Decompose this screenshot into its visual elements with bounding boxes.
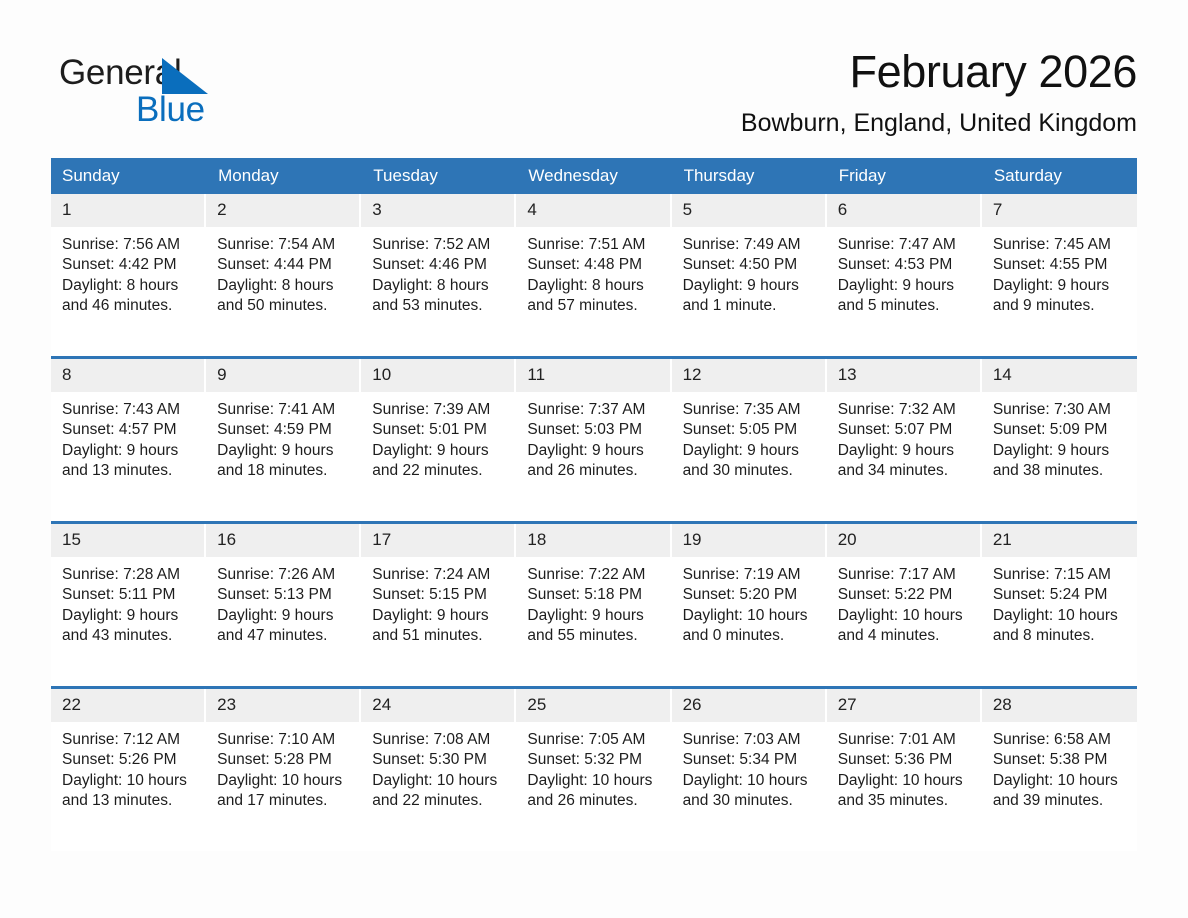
page-header: General Blue February 2026 Bowburn, Engl…: [51, 44, 1137, 152]
day-cell[interactable]: 10 Sunrise: 7:39 AM Sunset: 5:01 PM Dayl…: [361, 358, 516, 523]
sunset-text: Sunset: 4:44 PM: [217, 255, 353, 275]
calendar-week-row: 8 Sunrise: 7:43 AM Sunset: 4:57 PM Dayli…: [51, 358, 1137, 523]
calendar-week-row: 22 Sunrise: 7:12 AM Sunset: 5:26 PM Dayl…: [51, 688, 1137, 852]
daylight-text-line1: Daylight: 9 hours: [62, 606, 198, 626]
sunset-text: Sunset: 5:36 PM: [838, 750, 974, 770]
daylight-text-line1: Daylight: 9 hours: [993, 276, 1129, 296]
daylight-text-line1: Daylight: 9 hours: [683, 276, 819, 296]
day-info: Sunrise: 7:51 AM Sunset: 4:48 PM Dayligh…: [516, 227, 671, 316]
day-info: Sunrise: 7:37 AM Sunset: 5:03 PM Dayligh…: [516, 392, 671, 481]
day-cell[interactable]: 19 Sunrise: 7:19 AM Sunset: 5:20 PM Dayl…: [672, 523, 827, 688]
sunset-text: Sunset: 5:18 PM: [527, 585, 663, 605]
weekday-header-saturday: Saturday: [982, 158, 1137, 194]
sunset-text: Sunset: 5:22 PM: [838, 585, 974, 605]
calendar-week-row: 1 Sunrise: 7:56 AM Sunset: 4:42 PM Dayli…: [51, 194, 1137, 358]
day-info: Sunrise: 7:10 AM Sunset: 5:28 PM Dayligh…: [206, 722, 361, 811]
day-number: 11: [516, 359, 671, 392]
daylight-text-line2: and 47 minutes.: [217, 626, 353, 646]
day-number: 10: [361, 359, 516, 392]
weekday-header-thursday: Thursday: [672, 158, 827, 194]
sunset-text: Sunset: 5:38 PM: [993, 750, 1129, 770]
sunrise-text: Sunrise: 7:37 AM: [527, 400, 663, 420]
day-cell[interactable]: 24 Sunrise: 7:08 AM Sunset: 5:30 PM Dayl…: [361, 688, 516, 852]
sunrise-text: Sunrise: 7:26 AM: [217, 565, 353, 585]
daylight-text-line2: and 26 minutes.: [527, 791, 663, 811]
daylight-text-line1: Daylight: 9 hours: [838, 276, 974, 296]
day-cell[interactable]: 1 Sunrise: 7:56 AM Sunset: 4:42 PM Dayli…: [51, 194, 206, 358]
day-info: Sunrise: 7:03 AM Sunset: 5:34 PM Dayligh…: [672, 722, 827, 811]
daylight-text-line1: Daylight: 9 hours: [372, 606, 508, 626]
location-subtitle: Bowburn, England, United Kingdom: [437, 108, 1137, 138]
daylight-text-line1: Daylight: 10 hours: [683, 771, 819, 791]
day-number: 8: [51, 359, 206, 392]
daylight-text-line2: and 4 minutes.: [838, 626, 974, 646]
day-number: 13: [827, 359, 982, 392]
day-cell[interactable]: 18 Sunrise: 7:22 AM Sunset: 5:18 PM Dayl…: [516, 523, 671, 688]
sunrise-text: Sunrise: 7:35 AM: [683, 400, 819, 420]
day-number: 7: [982, 194, 1137, 227]
sunrise-text: Sunrise: 7:41 AM: [217, 400, 353, 420]
day-cell[interactable]: 2 Sunrise: 7:54 AM Sunset: 4:44 PM Dayli…: [206, 194, 361, 358]
sunset-text: Sunset: 5:15 PM: [372, 585, 508, 605]
day-info: Sunrise: 7:26 AM Sunset: 5:13 PM Dayligh…: [206, 557, 361, 646]
calendar-container: Sunday Monday Tuesday Wednesday Thursday…: [51, 158, 1137, 851]
sunrise-text: Sunrise: 7:39 AM: [372, 400, 508, 420]
day-cell[interactable]: 22 Sunrise: 7:12 AM Sunset: 5:26 PM Dayl…: [51, 688, 206, 852]
day-cell[interactable]: 12 Sunrise: 7:35 AM Sunset: 5:05 PM Dayl…: [672, 358, 827, 523]
day-info: Sunrise: 7:45 AM Sunset: 4:55 PM Dayligh…: [982, 227, 1137, 316]
sunset-text: Sunset: 5:09 PM: [993, 420, 1129, 440]
daylight-text-line2: and 53 minutes.: [372, 296, 508, 316]
day-cell[interactable]: 27 Sunrise: 7:01 AM Sunset: 5:36 PM Dayl…: [827, 688, 982, 852]
daylight-text-line1: Daylight: 9 hours: [217, 606, 353, 626]
day-cell[interactable]: 14 Sunrise: 7:30 AM Sunset: 5:09 PM Dayl…: [982, 358, 1137, 523]
day-number: 9: [206, 359, 361, 392]
day-number: 14: [982, 359, 1137, 392]
sunset-text: Sunset: 5:13 PM: [217, 585, 353, 605]
sunset-text: Sunset: 5:32 PM: [527, 750, 663, 770]
day-cell[interactable]: 25 Sunrise: 7:05 AM Sunset: 5:32 PM Dayl…: [516, 688, 671, 852]
daylight-text-line1: Daylight: 9 hours: [838, 441, 974, 461]
weekday-header-tuesday: Tuesday: [361, 158, 516, 194]
day-info: Sunrise: 7:41 AM Sunset: 4:59 PM Dayligh…: [206, 392, 361, 481]
daylight-text-line1: Daylight: 10 hours: [372, 771, 508, 791]
day-info: Sunrise: 7:12 AM Sunset: 5:26 PM Dayligh…: [51, 722, 206, 811]
title-block: February 2026 Bowburn, England, United K…: [437, 44, 1137, 138]
daylight-text-line2: and 13 minutes.: [62, 791, 198, 811]
daylight-text-line2: and 57 minutes.: [527, 296, 663, 316]
daylight-text-line2: and 38 minutes.: [993, 461, 1129, 481]
day-cell[interactable]: 26 Sunrise: 7:03 AM Sunset: 5:34 PM Dayl…: [672, 688, 827, 852]
day-number: 16: [206, 524, 361, 557]
day-cell[interactable]: 7 Sunrise: 7:45 AM Sunset: 4:55 PM Dayli…: [982, 194, 1137, 358]
sunset-text: Sunset: 5:01 PM: [372, 420, 508, 440]
day-number: 3: [361, 194, 516, 227]
day-info: Sunrise: 7:17 AM Sunset: 5:22 PM Dayligh…: [827, 557, 982, 646]
sunrise-text: Sunrise: 7:12 AM: [62, 730, 198, 750]
daylight-text-line2: and 43 minutes.: [62, 626, 198, 646]
daylight-text-line2: and 30 minutes.: [683, 461, 819, 481]
day-cell[interactable]: 16 Sunrise: 7:26 AM Sunset: 5:13 PM Dayl…: [206, 523, 361, 688]
sunrise-text: Sunrise: 7:52 AM: [372, 235, 508, 255]
weekday-header-friday: Friday: [827, 158, 982, 194]
day-cell[interactable]: 8 Sunrise: 7:43 AM Sunset: 4:57 PM Dayli…: [51, 358, 206, 523]
daylight-text-line2: and 13 minutes.: [62, 461, 198, 481]
day-cell[interactable]: 5 Sunrise: 7:49 AM Sunset: 4:50 PM Dayli…: [672, 194, 827, 358]
daylight-text-line1: Daylight: 9 hours: [62, 441, 198, 461]
sunset-text: Sunset: 4:53 PM: [838, 255, 974, 275]
daylight-text-line1: Daylight: 10 hours: [993, 606, 1129, 626]
sunset-text: Sunset: 5:07 PM: [838, 420, 974, 440]
day-number: 23: [206, 689, 361, 722]
day-info: Sunrise: 7:19 AM Sunset: 5:20 PM Dayligh…: [672, 557, 827, 646]
day-cell[interactable]: 23 Sunrise: 7:10 AM Sunset: 5:28 PM Dayl…: [206, 688, 361, 852]
day-info: Sunrise: 7:54 AM Sunset: 4:44 PM Dayligh…: [206, 227, 361, 316]
day-info: Sunrise: 7:30 AM Sunset: 5:09 PM Dayligh…: [982, 392, 1137, 481]
day-number: 20: [827, 524, 982, 557]
daylight-text-line1: Daylight: 8 hours: [372, 276, 508, 296]
daylight-text-line1: Daylight: 8 hours: [527, 276, 663, 296]
sunrise-text: Sunrise: 7:19 AM: [683, 565, 819, 585]
day-info: Sunrise: 7:52 AM Sunset: 4:46 PM Dayligh…: [361, 227, 516, 316]
day-cell[interactable]: 6 Sunrise: 7:47 AM Sunset: 4:53 PM Dayli…: [827, 194, 982, 358]
sunset-text: Sunset: 4:48 PM: [527, 255, 663, 275]
daylight-text-line1: Daylight: 10 hours: [838, 771, 974, 791]
daylight-text-line1: Daylight: 10 hours: [62, 771, 198, 791]
daylight-text-line2: and 1 minute.: [683, 296, 819, 316]
weekday-header-sunday: Sunday: [51, 158, 206, 194]
daylight-text-line1: Daylight: 9 hours: [527, 606, 663, 626]
sunrise-text: Sunrise: 7:43 AM: [62, 400, 198, 420]
sunrise-text: Sunrise: 7:03 AM: [683, 730, 819, 750]
sunrise-text: Sunrise: 7:47 AM: [838, 235, 974, 255]
day-cell[interactable]: 3 Sunrise: 7:52 AM Sunset: 4:46 PM Dayli…: [361, 194, 516, 358]
day-number: 21: [982, 524, 1137, 557]
daylight-text-line1: Daylight: 9 hours: [372, 441, 508, 461]
day-number: 6: [827, 194, 982, 227]
daylight-text-line1: Daylight: 9 hours: [683, 441, 819, 461]
daylight-text-line1: Daylight: 9 hours: [993, 441, 1129, 461]
sunrise-text: Sunrise: 7:49 AM: [683, 235, 819, 255]
day-info: Sunrise: 7:15 AM Sunset: 5:24 PM Dayligh…: [982, 557, 1137, 646]
day-info: Sunrise: 7:05 AM Sunset: 5:32 PM Dayligh…: [516, 722, 671, 811]
day-number: 22: [51, 689, 206, 722]
day-info: Sunrise: 7:32 AM Sunset: 5:07 PM Dayligh…: [827, 392, 982, 481]
sunset-text: Sunset: 4:42 PM: [62, 255, 198, 275]
day-info: Sunrise: 7:22 AM Sunset: 5:18 PM Dayligh…: [516, 557, 671, 646]
sunset-text: Sunset: 5:24 PM: [993, 585, 1129, 605]
day-info: Sunrise: 7:39 AM Sunset: 5:01 PM Dayligh…: [361, 392, 516, 481]
daylight-text-line2: and 55 minutes.: [527, 626, 663, 646]
sunrise-text: Sunrise: 7:28 AM: [62, 565, 198, 585]
calendar-page: General Blue February 2026 Bowburn, Engl…: [0, 0, 1188, 918]
day-cell[interactable]: 17 Sunrise: 7:24 AM Sunset: 5:15 PM Dayl…: [361, 523, 516, 688]
day-info: Sunrise: 7:08 AM Sunset: 5:30 PM Dayligh…: [361, 722, 516, 811]
day-cell[interactable]: 9 Sunrise: 7:41 AM Sunset: 4:59 PM Dayli…: [206, 358, 361, 523]
daylight-text-line2: and 5 minutes.: [838, 296, 974, 316]
sunset-text: Sunset: 4:59 PM: [217, 420, 353, 440]
day-number: 27: [827, 689, 982, 722]
day-info: Sunrise: 7:47 AM Sunset: 4:53 PM Dayligh…: [827, 227, 982, 316]
logo-text-blue: Blue: [136, 89, 205, 131]
daylight-text-line2: and 9 minutes.: [993, 296, 1129, 316]
daylight-text-line1: Daylight: 8 hours: [217, 276, 353, 296]
sunset-text: Sunset: 5:20 PM: [683, 585, 819, 605]
daylight-text-line2: and 22 minutes.: [372, 461, 508, 481]
day-info: Sunrise: 7:35 AM Sunset: 5:05 PM Dayligh…: [672, 392, 827, 481]
daylight-text-line2: and 22 minutes.: [372, 791, 508, 811]
day-number: 18: [516, 524, 671, 557]
sunrise-text: Sunrise: 7:45 AM: [993, 235, 1129, 255]
calendar-week-row: 15 Sunrise: 7:28 AM Sunset: 5:11 PM Dayl…: [51, 523, 1137, 688]
day-number: 2: [206, 194, 361, 227]
daylight-text-line2: and 46 minutes.: [62, 296, 198, 316]
page-title: February 2026: [437, 44, 1137, 100]
calendar-header-row: Sunday Monday Tuesday Wednesday Thursday…: [51, 158, 1137, 194]
sunset-text: Sunset: 5:05 PM: [683, 420, 819, 440]
day-cell[interactable]: 11 Sunrise: 7:37 AM Sunset: 5:03 PM Dayl…: [516, 358, 671, 523]
sunrise-text: Sunrise: 7:22 AM: [527, 565, 663, 585]
sunset-text: Sunset: 5:11 PM: [62, 585, 198, 605]
daylight-text-line2: and 39 minutes.: [993, 791, 1129, 811]
sunrise-text: Sunrise: 7:01 AM: [838, 730, 974, 750]
day-info: Sunrise: 7:56 AM Sunset: 4:42 PM Dayligh…: [51, 227, 206, 316]
daylight-text-line2: and 34 minutes.: [838, 461, 974, 481]
daylight-text-line1: Daylight: 10 hours: [683, 606, 819, 626]
calendar-table: Sunday Monday Tuesday Wednesday Thursday…: [51, 158, 1137, 851]
day-number: 15: [51, 524, 206, 557]
sunset-text: Sunset: 5:28 PM: [217, 750, 353, 770]
generalblue-logo[interactable]: General Blue: [59, 52, 309, 136]
sunset-text: Sunset: 5:03 PM: [527, 420, 663, 440]
day-number: 17: [361, 524, 516, 557]
daylight-text-line2: and 17 minutes.: [217, 791, 353, 811]
day-info: Sunrise: 6:58 AM Sunset: 5:38 PM Dayligh…: [982, 722, 1137, 811]
sunset-text: Sunset: 5:30 PM: [372, 750, 508, 770]
sunset-text: Sunset: 4:57 PM: [62, 420, 198, 440]
sunrise-text: Sunrise: 7:30 AM: [993, 400, 1129, 420]
daylight-text-line1: Daylight: 10 hours: [527, 771, 663, 791]
daylight-text-line2: and 26 minutes.: [527, 461, 663, 481]
day-number: 4: [516, 194, 671, 227]
daylight-text-line1: Daylight: 9 hours: [527, 441, 663, 461]
sunrise-text: Sunrise: 7:17 AM: [838, 565, 974, 585]
day-cell[interactable]: 13 Sunrise: 7:32 AM Sunset: 5:07 PM Dayl…: [827, 358, 982, 523]
weekday-header-wednesday: Wednesday: [516, 158, 671, 194]
day-number: 12: [672, 359, 827, 392]
sunrise-text: Sunrise: 7:08 AM: [372, 730, 508, 750]
sunrise-text: Sunrise: 7:05 AM: [527, 730, 663, 750]
day-number: 26: [672, 689, 827, 722]
day-cell[interactable]: 20 Sunrise: 7:17 AM Sunset: 5:22 PM Dayl…: [827, 523, 982, 688]
day-info: Sunrise: 7:43 AM Sunset: 4:57 PM Dayligh…: [51, 392, 206, 481]
daylight-text-line2: and 0 minutes.: [683, 626, 819, 646]
daylight-text-line2: and 18 minutes.: [217, 461, 353, 481]
day-cell[interactable]: 28 Sunrise: 6:58 AM Sunset: 5:38 PM Dayl…: [982, 688, 1137, 852]
sunset-text: Sunset: 4:46 PM: [372, 255, 508, 275]
day-info: Sunrise: 7:24 AM Sunset: 5:15 PM Dayligh…: [361, 557, 516, 646]
day-info: Sunrise: 7:49 AM Sunset: 4:50 PM Dayligh…: [672, 227, 827, 316]
sunrise-text: Sunrise: 7:51 AM: [527, 235, 663, 255]
day-cell[interactable]: 21 Sunrise: 7:15 AM Sunset: 5:24 PM Dayl…: [982, 523, 1137, 688]
sunrise-text: Sunrise: 7:24 AM: [372, 565, 508, 585]
daylight-text-line2: and 30 minutes.: [683, 791, 819, 811]
day-cell[interactable]: 4 Sunrise: 7:51 AM Sunset: 4:48 PM Dayli…: [516, 194, 671, 358]
day-number: 28: [982, 689, 1137, 722]
day-info: Sunrise: 7:01 AM Sunset: 5:36 PM Dayligh…: [827, 722, 982, 811]
sunset-text: Sunset: 5:26 PM: [62, 750, 198, 770]
sunrise-text: Sunrise: 7:54 AM: [217, 235, 353, 255]
sunrise-text: Sunrise: 7:15 AM: [993, 565, 1129, 585]
daylight-text-line1: Daylight: 8 hours: [62, 276, 198, 296]
day-number: 25: [516, 689, 671, 722]
daylight-text-line1: Daylight: 10 hours: [217, 771, 353, 791]
sunrise-text: Sunrise: 6:58 AM: [993, 730, 1129, 750]
daylight-text-line2: and 35 minutes.: [838, 791, 974, 811]
sunrise-text: Sunrise: 7:32 AM: [838, 400, 974, 420]
sunset-text: Sunset: 4:50 PM: [683, 255, 819, 275]
day-info: Sunrise: 7:28 AM Sunset: 5:11 PM Dayligh…: [51, 557, 206, 646]
daylight-text-line1: Daylight: 10 hours: [993, 771, 1129, 791]
daylight-text-line2: and 50 minutes.: [217, 296, 353, 316]
daylight-text-line2: and 51 minutes.: [372, 626, 508, 646]
day-number: 24: [361, 689, 516, 722]
sunrise-text: Sunrise: 7:10 AM: [217, 730, 353, 750]
sunrise-text: Sunrise: 7:56 AM: [62, 235, 198, 255]
daylight-text-line1: Daylight: 10 hours: [838, 606, 974, 626]
day-number: 1: [51, 194, 206, 227]
weekday-header-monday: Monday: [206, 158, 361, 194]
day-number: 5: [672, 194, 827, 227]
day-cell[interactable]: 15 Sunrise: 7:28 AM Sunset: 5:11 PM Dayl…: [51, 523, 206, 688]
calendar-body: 1 Sunrise: 7:56 AM Sunset: 4:42 PM Dayli…: [51, 194, 1137, 851]
sunset-text: Sunset: 4:55 PM: [993, 255, 1129, 275]
daylight-text-line1: Daylight: 9 hours: [217, 441, 353, 461]
daylight-text-line2: and 8 minutes.: [993, 626, 1129, 646]
day-number: 19: [672, 524, 827, 557]
sunset-text: Sunset: 5:34 PM: [683, 750, 819, 770]
